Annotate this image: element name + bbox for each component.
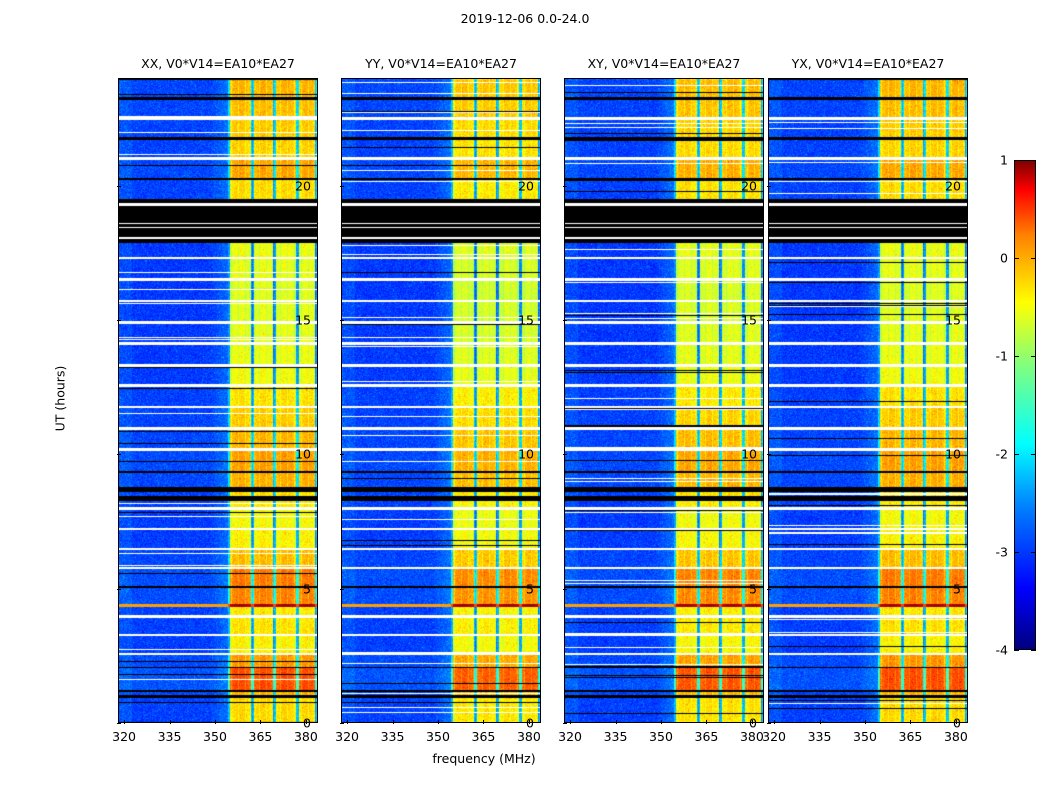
- colorbar-tick-label: -4: [996, 643, 1008, 658]
- y-tick: [117, 186, 121, 187]
- colorbar-tick: [1031, 258, 1036, 259]
- y-axis-label: UT (hours): [53, 338, 68, 458]
- y-tick: [340, 320, 344, 321]
- x-tick-label: 320: [762, 729, 786, 744]
- spectrum-image-xx: [118, 78, 318, 723]
- x-tick-label: 365: [248, 729, 272, 744]
- colorbar-tick: [1014, 258, 1019, 259]
- y-tick: [767, 320, 771, 321]
- x-tick: [438, 720, 439, 724]
- y-tick: [563, 723, 567, 724]
- y-tick-label: 10: [945, 447, 961, 462]
- y-tick: [767, 723, 771, 724]
- x-tick-label: 365: [694, 729, 718, 744]
- y-tick: [340, 589, 344, 590]
- y-tick: [340, 723, 344, 724]
- x-tick-label: 380: [294, 729, 318, 744]
- y-tick-label: 20: [518, 178, 534, 193]
- x-tick: [260, 720, 261, 724]
- colorbar-tick: [1014, 356, 1019, 357]
- y-tick: [117, 454, 121, 455]
- x-tick-label: 365: [898, 729, 922, 744]
- x-tick: [820, 720, 821, 724]
- x-tick: [661, 720, 662, 724]
- x-tick-label: 335: [381, 729, 405, 744]
- y-tick-label: 0: [303, 716, 311, 731]
- y-tick-label: 0: [526, 716, 534, 731]
- y-tick: [340, 454, 344, 455]
- x-tick: [124, 720, 125, 724]
- colorbar-tick: [1031, 160, 1036, 161]
- y-tick-label: 20: [741, 178, 757, 193]
- y-tick: [767, 186, 771, 187]
- x-tick: [706, 720, 707, 724]
- colorbar-tick-label: 1: [1000, 153, 1008, 168]
- x-tick: [774, 720, 775, 724]
- colorbar-tick: [1031, 454, 1036, 455]
- colorbar-tick: [1031, 356, 1036, 357]
- y-tick: [767, 454, 771, 455]
- x-tick-label: 350: [203, 729, 227, 744]
- y-tick-label: 5: [953, 581, 961, 596]
- y-tick: [117, 589, 121, 590]
- y-tick: [340, 186, 344, 187]
- x-tick-label: 350: [853, 729, 877, 744]
- colorbar: 10-1-2-3-4: [1014, 160, 1036, 650]
- y-tick-label: 5: [749, 581, 757, 596]
- x-tick-label: 380: [517, 729, 541, 744]
- x-tick: [215, 720, 216, 724]
- y-tick-label: 20: [295, 178, 311, 193]
- colorbar-tick: [1014, 454, 1019, 455]
- y-tick-label: 15: [741, 312, 757, 327]
- panel-title-yx: YX, V0*V14=EA10*EA27: [768, 56, 968, 71]
- y-tick: [563, 589, 567, 590]
- figure: 2019-12-06 0.0-24.0 XX, V0*V14=EA10*EA27…: [0, 0, 1050, 800]
- y-tick: [563, 186, 567, 187]
- y-tick-label: 10: [295, 447, 311, 462]
- y-tick: [767, 589, 771, 590]
- x-tick: [616, 720, 617, 724]
- panel-title-yy: YY, V0*V14=EA10*EA27: [341, 56, 541, 71]
- x-tick-label: 320: [112, 729, 136, 744]
- x-axis-label: frequency (MHz): [0, 751, 968, 766]
- spectrum-image-xy: [564, 78, 764, 723]
- colorbar-tick-label: 0: [1000, 251, 1008, 266]
- y-tick-label: 15: [945, 312, 961, 327]
- panel-yy: YY, V0*V14=EA10*EA2732033535036538005101…: [341, 78, 541, 723]
- y-tick-label: 5: [526, 581, 534, 596]
- x-tick: [170, 720, 171, 724]
- panel-title-xy: XY, V0*V14=EA10*EA27: [564, 56, 764, 71]
- x-tick-label: 335: [604, 729, 628, 744]
- y-tick: [117, 320, 121, 321]
- spectrum-image-yx: [768, 78, 968, 723]
- y-tick-label: 20: [945, 178, 961, 193]
- spectrum-image-yy: [341, 78, 541, 723]
- colorbar-tick: [1031, 650, 1036, 651]
- colorbar-tick: [1031, 552, 1036, 553]
- y-tick: [563, 320, 567, 321]
- x-tick-label: 350: [649, 729, 673, 744]
- x-tick-label: 365: [471, 729, 495, 744]
- colorbar-tick: [1014, 552, 1019, 553]
- x-tick-label: 380: [944, 729, 968, 744]
- x-tick: [483, 720, 484, 724]
- x-tick: [570, 720, 571, 724]
- x-tick-label: 335: [158, 729, 182, 744]
- x-tick-label: 380: [740, 729, 764, 744]
- y-tick: [117, 723, 121, 724]
- y-tick-label: 10: [741, 447, 757, 462]
- y-tick-label: 5: [303, 581, 311, 596]
- y-tick-label: 10: [518, 447, 534, 462]
- x-tick-label: 335: [808, 729, 832, 744]
- x-tick-label: 320: [558, 729, 582, 744]
- x-tick-label: 350: [426, 729, 450, 744]
- panel-xy: XY, V0*V14=EA10*EA2732033535036538005101…: [564, 78, 764, 723]
- x-tick: [865, 720, 866, 724]
- colorbar-tick: [1014, 160, 1019, 161]
- panel-yx: YX, V0*V14=EA10*EA2732033535036538005101…: [768, 78, 968, 723]
- y-tick-label: 0: [953, 716, 961, 731]
- y-tick-label: 15: [518, 312, 534, 327]
- figure-suptitle: 2019-12-06 0.0-24.0: [0, 11, 1050, 26]
- colorbar-tick-label: -3: [996, 545, 1008, 560]
- colorbar-tick: [1014, 650, 1019, 651]
- colorbar-tick-label: -1: [996, 349, 1008, 364]
- y-tick: [563, 454, 567, 455]
- colorbar-gradient: [1014, 160, 1036, 650]
- x-tick: [910, 720, 911, 724]
- x-tick-label: 320: [335, 729, 359, 744]
- y-tick-label: 0: [749, 716, 757, 731]
- x-tick: [393, 720, 394, 724]
- x-tick: [347, 720, 348, 724]
- colorbar-tick-label: -2: [996, 447, 1008, 462]
- panel-xx: XX, V0*V14=EA10*EA2732033535036538005101…: [118, 78, 318, 723]
- panel-title-xx: XX, V0*V14=EA10*EA27: [118, 56, 318, 71]
- y-tick-label: 15: [295, 312, 311, 327]
